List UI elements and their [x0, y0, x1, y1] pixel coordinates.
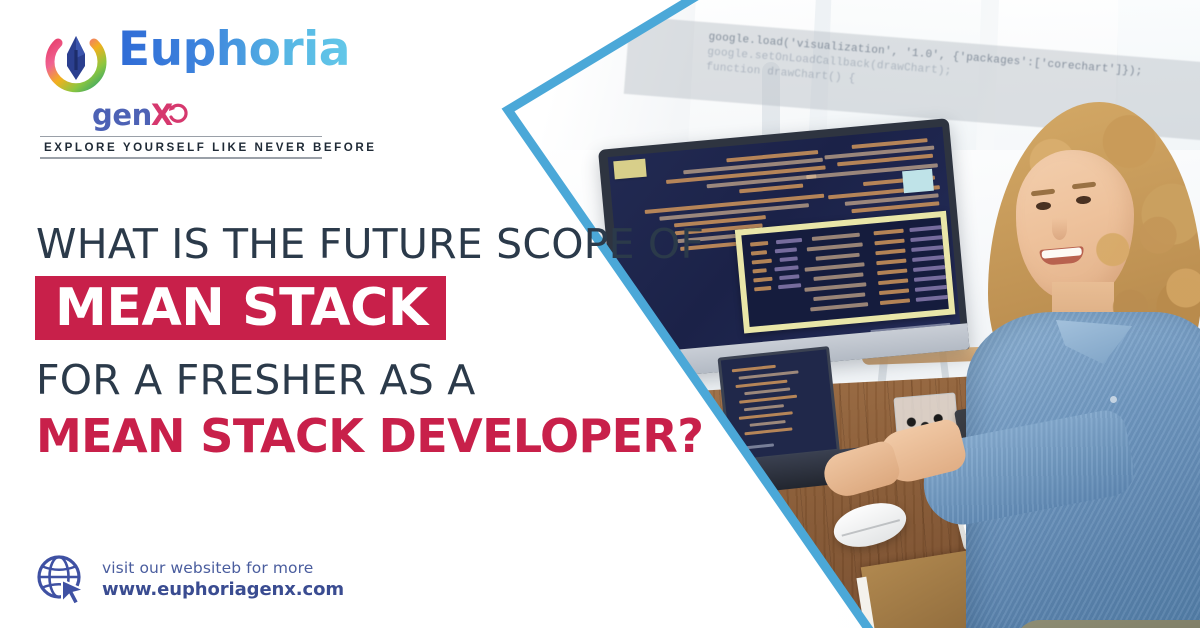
- tagline-block: EXPLORE YOURSELF LIKE NEVER BEFORE: [40, 136, 330, 159]
- circular-arrow-icon: [166, 102, 190, 128]
- sticky-note: [902, 169, 934, 194]
- footer-website-block[interactable]: visit our websiteb for more www.euphoria…: [34, 552, 344, 606]
- headline-block: WHAT IS THE FUTURE SCOPE OF MEAN STACK F…: [36, 218, 696, 464]
- headline-line-1: WHAT IS THE FUTURE SCOPE OF: [36, 218, 696, 270]
- globe-cursor-icon: [34, 552, 88, 606]
- sticky-note: [613, 159, 646, 180]
- headline-line-3: MEAN STACK DEVELOPER?: [36, 408, 696, 464]
- headline-highlight-band: MEAN STACK: [35, 276, 446, 340]
- website-url[interactable]: www.euphoriagenx.com: [102, 578, 344, 601]
- banner-root: google.load('visualization', '1.0', {'pa…: [0, 0, 1200, 628]
- tagline-rule-bottom: [40, 157, 322, 158]
- rainbow-ring-pen-nib-icon: [40, 28, 112, 100]
- brand-logo[interactable]: Euphoria gen X EXPLORE YOURSELF LIKE NEV…: [40, 26, 330, 159]
- visit-label: visit our websiteb for more: [102, 558, 344, 578]
- genx-lockup: gen X: [92, 98, 330, 132]
- nose: [1052, 218, 1067, 240]
- genx-gen-text: gen: [92, 98, 152, 132]
- headline-line-2: FOR A FRESHER AS A: [36, 354, 696, 406]
- brand-wordmark: Euphoria: [118, 28, 350, 73]
- terminal-window: [735, 211, 956, 334]
- person-photo: [960, 96, 1200, 628]
- brand-tagline: EXPLORE YOURSELF LIKE NEVER BEFORE: [40, 137, 330, 157]
- lap: [1014, 620, 1200, 628]
